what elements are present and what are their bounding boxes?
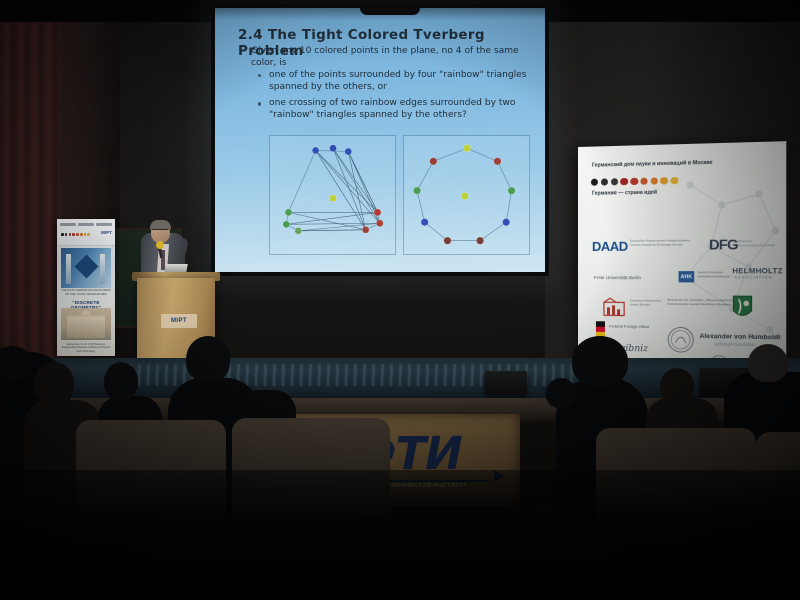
logo-humboldt: Alexander von Humboldt (700, 333, 781, 342)
building-graphic (67, 315, 105, 338)
logo-dfg: DFG (709, 236, 738, 253)
projection-screen: 2.4 The Tight Colored Tverberg Problem G… (215, 8, 545, 272)
figure-point (413, 187, 420, 194)
audience-head (660, 368, 694, 404)
color-dot (84, 233, 87, 236)
left-figure-svg (270, 136, 395, 254)
microphone-icon (156, 241, 164, 249)
logo-dhi-subtitle: Deutsches Historisches Institut Moskau (630, 299, 665, 307)
color-dot (620, 178, 627, 186)
figure-point (461, 192, 468, 199)
figure-point (444, 237, 451, 244)
logo-daad-subtitle: Deutscher Akademischer Austauschdienst G… (630, 238, 692, 246)
figure-point (330, 195, 337, 202)
slide-bullet-list: one of the points surrounded by four "ra… (257, 70, 529, 126)
presentation-slide: 2.4 The Tight Colored Tverberg Problem G… (215, 8, 545, 272)
banner-left-dot-row (61, 233, 90, 236)
banner-left-subtitle: THE FIFTH GERMAN-RUSSIAN WEEK OF THE YOU… (59, 289, 113, 296)
figure-point (312, 147, 319, 154)
logo-helmholtz: HELMHOLTZ (732, 266, 783, 275)
figure-point (502, 218, 509, 225)
figure-point (285, 209, 292, 216)
figure-point (283, 221, 290, 228)
tower-graphic (66, 254, 71, 284)
figure-point (508, 187, 515, 194)
figure-point (494, 158, 501, 165)
diamond-graphic (74, 254, 98, 278)
audience-head (572, 336, 628, 386)
logo-nrw-ministry: Ministerium für Innovation, Wissenschaft… (667, 298, 732, 307)
figure-point (430, 158, 437, 165)
logo-helmholtz-subtitle: ASSOCIATION (734, 275, 772, 279)
figure-point (463, 145, 470, 152)
figure-left-point-configuration (269, 135, 396, 255)
audience-head (0, 346, 32, 380)
color-dot (72, 233, 75, 236)
slide-bullet-item: one crossing of two rainbow edges surrou… (257, 98, 529, 121)
speaker-glasses (152, 229, 168, 234)
slide-bullet-item: one of the points surrounded by four "ra… (257, 70, 529, 93)
figure-point (295, 227, 302, 234)
logo-humboldt-subtitle: Stiftung/Foundation (714, 341, 755, 347)
logo-freie-universitaet: Freie Universität Berlin (594, 275, 641, 280)
conference-rollup-banner: MIPT THE FIFTH GERMAN-RUSSIAN WEEK OF TH… (57, 219, 115, 356)
stage-monitor-speaker (485, 371, 527, 395)
sponsor-banner-headline-2: Германия — страна идей (592, 189, 684, 198)
figure-point (362, 226, 369, 233)
figure-point (421, 218, 428, 225)
color-dot (61, 233, 64, 236)
color-dot (660, 177, 668, 185)
figure-point (374, 209, 381, 216)
audience-head (186, 336, 230, 382)
audience-head (104, 362, 138, 400)
banner-left-footer: September 11-15, 2015 Moscow, Dolgoprudn… (59, 343, 113, 353)
logo-seal-icon (667, 326, 694, 353)
color-dot (591, 179, 598, 187)
color-dot (69, 233, 72, 236)
audience-head (34, 362, 74, 404)
slide-lead-text: Given any 10 colored points in the plane… (251, 46, 526, 69)
logo-dfg-subtitle: Deutsche Forschungsgemeinschaft (738, 239, 786, 248)
banner-left-logo-row (60, 222, 112, 227)
audience-head (748, 344, 788, 382)
foreground-darkness (0, 470, 800, 600)
right-figure-svg (404, 136, 529, 254)
figure-point (330, 145, 337, 152)
banner-left-building-photo (61, 308, 111, 340)
tower-graphic (100, 254, 105, 284)
color-dot (611, 178, 618, 186)
banner-left-artwork (61, 248, 111, 288)
color-dot (650, 177, 658, 185)
logo-daad: DAAD (592, 239, 628, 254)
banner-left-header: MIPT (57, 219, 115, 246)
figure-point (345, 148, 352, 155)
podium-mipt-logo: MIPT (161, 314, 197, 328)
color-dot (640, 178, 648, 186)
color-dot (630, 178, 638, 186)
color-dot (76, 233, 79, 236)
logo-ahk-subtitle: Deutsch-Russische Auslandshandelskammer (697, 271, 739, 278)
color-dot (65, 233, 68, 236)
audience-head (546, 378, 576, 408)
logo-ahk: AHK (679, 271, 695, 282)
figure-right-point-configuration (403, 135, 530, 255)
figure-point (476, 237, 483, 244)
logo-federal-foreign-office: Federal Foreign Office (609, 323, 649, 329)
stage-curtain (0, 0, 60, 370)
color-dot (671, 177, 679, 185)
color-dot (87, 233, 90, 236)
sponsor-banner-dot-row (591, 177, 678, 186)
logo-dhi-mark-icon (602, 297, 628, 317)
logo-nrw-crest-icon (732, 295, 752, 320)
color-dot (601, 178, 608, 186)
color-dot (80, 233, 83, 236)
banner-left-mipt-logo: MIPT (101, 230, 112, 235)
conference-photo-scene: 2.4 The Tight Colored Tverberg Problem G… (0, 0, 800, 600)
figure-point (376, 220, 383, 227)
